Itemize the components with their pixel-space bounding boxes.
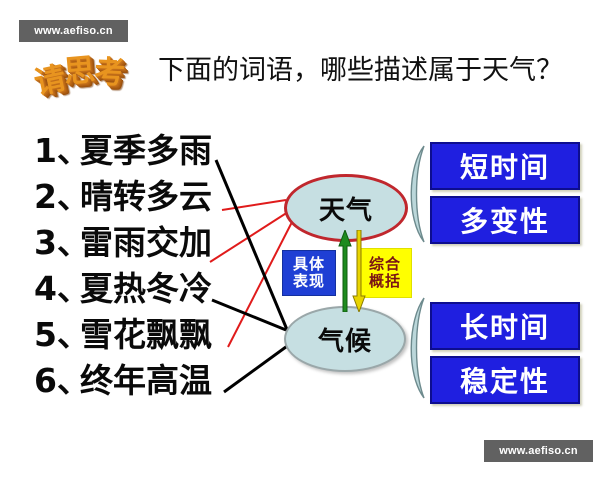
list-item-number: 5、: [34, 312, 80, 358]
label-line: 具体: [293, 256, 325, 273]
wordart-char-3: 考: [93, 50, 125, 95]
list-item-label: 夏季多雨: [80, 131, 212, 170]
list-item: 6、终年高温: [34, 358, 264, 404]
list-item: 4、夏热冬冷: [34, 266, 264, 312]
list-item: 1、夏季多雨: [34, 128, 264, 174]
brace-climate-attributes: [404, 296, 430, 400]
label-line: 综合: [369, 256, 401, 273]
list-item-label: 夏热冬冷: [80, 269, 212, 308]
arrow-down-yellow-icon: [352, 230, 366, 312]
list-item: 5、雪花飘飘: [34, 312, 264, 358]
list-item-label: 雷雨交加: [80, 223, 212, 262]
watermark-top: www.aefiso.cn: [19, 20, 128, 42]
page-title: 下面的词语，哪些描述属于天气？: [158, 48, 563, 94]
list-item-number: 2、: [34, 174, 80, 220]
brace-weather-attributes: [404, 144, 430, 244]
list-item-label: 雪花飘飘: [80, 315, 212, 354]
list-item-label: 终年高温: [80, 361, 212, 400]
attribute-box-climate-2: 稳定性: [430, 356, 580, 404]
list-item-number: 1、: [34, 128, 80, 174]
attribute-box-weather-1: 短时间: [430, 142, 580, 190]
slide-canvas: www.aefiso.cn www.aefiso.cn 请思考 下面的词语，哪些…: [0, 0, 600, 480]
label-comprehensive-summary: 综合 概括: [358, 248, 412, 298]
wordart-please-think: 请思考: [32, 45, 157, 99]
title-row: 请思考 下面的词语，哪些描述属于天气？: [30, 46, 590, 98]
label-concrete-manifestation: 具体 表现: [282, 250, 336, 296]
arrow-up-green-icon: [338, 230, 352, 312]
attribute-box-weather-2: 多变性: [430, 196, 580, 244]
list-item-number: 6、: [34, 358, 80, 404]
list-item-label: 晴转多云: [80, 177, 212, 216]
term-list: 1、夏季多雨 2、晴转多云 3、雷雨交加 4、夏热冬冷 5、雪花飘飘 6、终年高…: [34, 128, 264, 404]
list-item: 2、晴转多云: [34, 174, 264, 220]
watermark-bottom: www.aefiso.cn: [484, 440, 593, 462]
node-climate: 气候: [284, 306, 406, 372]
list-item-number: 4、: [34, 266, 80, 312]
label-line: 表现: [293, 273, 325, 290]
label-line: 概括: [369, 273, 401, 290]
list-item: 3、雷雨交加: [34, 220, 264, 266]
attribute-box-climate-1: 长时间: [430, 302, 580, 350]
list-item-number: 3、: [34, 220, 80, 266]
wordart-char-2: 思: [62, 48, 96, 94]
